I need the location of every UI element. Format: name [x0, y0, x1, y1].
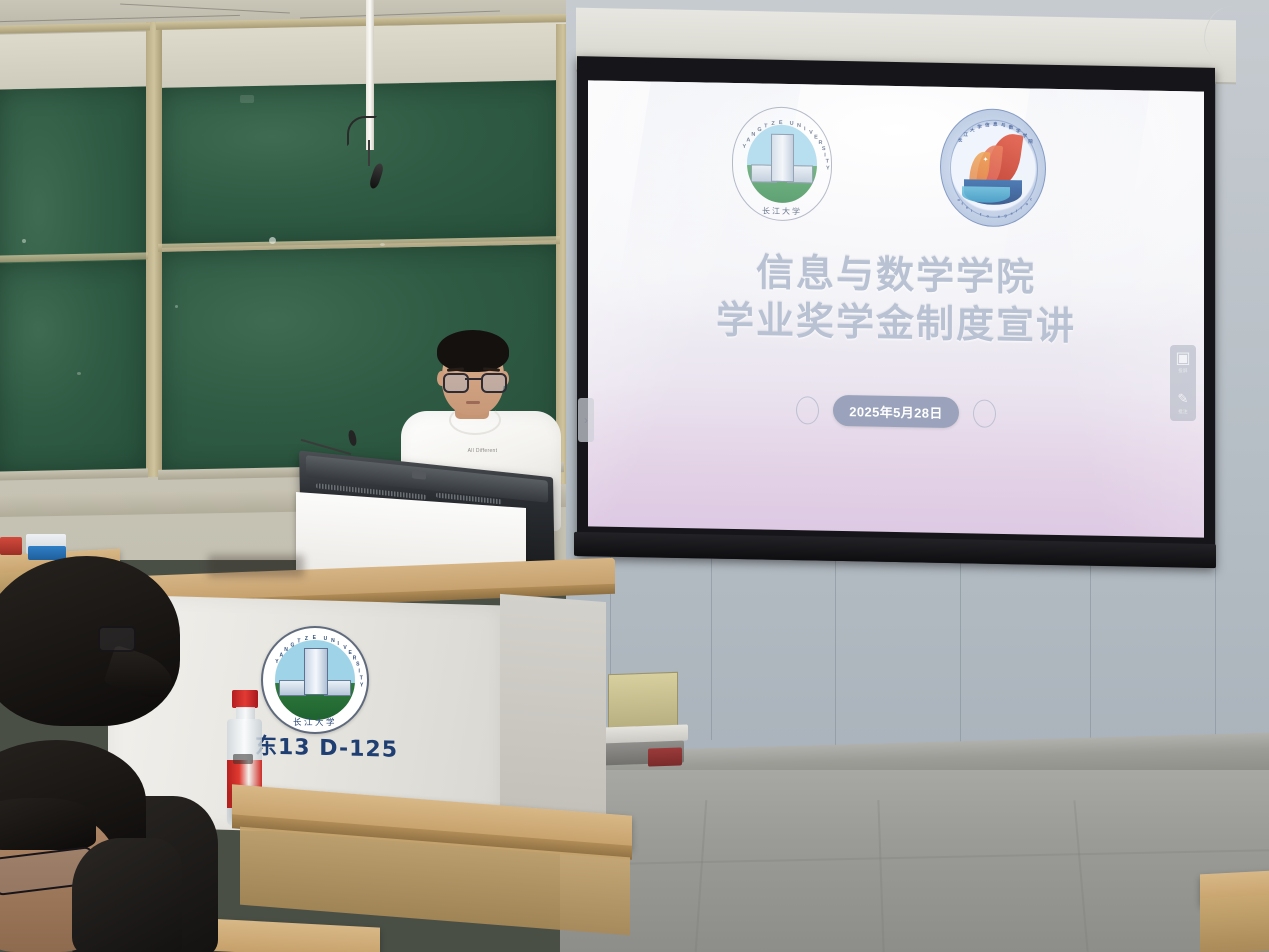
equipment-box [608, 672, 678, 728]
presenter-hair-side [485, 343, 509, 365]
emblem-arc-text: Y A N G T Z E U N I V E R S I T Y [733, 107, 831, 221]
podium-shadow [208, 555, 304, 577]
presenter-hair-side [439, 343, 463, 365]
student-back-of-head [0, 556, 200, 756]
podium-university-logo: Y A N G T Z E U N I V E R S I T Y 长江大学 [261, 626, 369, 734]
chalkboard-panel-upper [160, 80, 560, 248]
wall-panel-seam [1215, 40, 1216, 780]
room-label: 东13 D-125 [255, 728, 398, 763]
screen-tool-panel[interactable]: ▣ 投屏 ✎ 批注 [1170, 345, 1196, 421]
podium-logo-wing [324, 680, 351, 696]
student-hair-fringe [0, 798, 96, 850]
chalkboard-panel-left-lower [0, 260, 148, 473]
emblem-chinese-name: 长江大学 [733, 205, 831, 218]
chalk-mark [269, 237, 276, 244]
podium-logo-wing [279, 680, 306, 696]
shirt-print: All Different [395, 448, 570, 454]
presenter-glasses-lens-right [481, 373, 507, 393]
classroom-scene: Y A N G T Z E U N I V E R S I T Y [0, 0, 1269, 952]
microphone-stem [368, 140, 370, 166]
student-hair [0, 556, 180, 726]
student-desk-right-front [1200, 894, 1269, 952]
pen-tool-label: 批注 [1178, 409, 1187, 415]
decorative-ring-right [973, 399, 996, 427]
chalk-mark [77, 372, 81, 375]
decorative-ring-left [796, 396, 819, 424]
chevron-right-icon: › [584, 413, 588, 427]
student-profile [0, 746, 240, 952]
pen-icon[interactable]: ✎ [1176, 392, 1190, 405]
presenter-glasses-lens-left [443, 373, 469, 393]
slide-title-line1: 信息与数学学院 [588, 248, 1204, 302]
presenter-mouth [466, 401, 480, 404]
student-glasses [98, 626, 136, 652]
podium-logo-tower [304, 648, 328, 694]
slide-date-row: 2025年5月28日 [588, 390, 1204, 432]
chalk-mark [175, 305, 178, 308]
podium-side-panel [500, 594, 606, 836]
presenter-glasses-bridge [465, 378, 481, 380]
podium-logo-chinese: 长江大学 [263, 716, 367, 728]
chalk-mark [380, 243, 385, 246]
chalk-mark [240, 95, 254, 103]
microphone-arm [347, 116, 377, 146]
slide-logo-yangtze-university: Y A N G T Z E U N I V E R S I T Y [732, 107, 832, 221]
slide-date-badge: 2025年5月28日 [833, 395, 959, 428]
student-hand-arm [72, 838, 182, 952]
slide-logo-college: ✦ 长 江 大 学 信 息 与 数 学 学 院 c [940, 109, 1046, 227]
red-binder [648, 747, 682, 766]
monitor-stand-mount [412, 470, 426, 479]
emblem-arc-text-en: c o l l e g e o f i n f o [941, 109, 1045, 227]
projected-slide: Y A N G T Z E U N I V E R S I T Y [588, 80, 1204, 537]
yangtze-university-emblem: Y A N G T Z E U N I V E R S I T Y [732, 106, 832, 222]
chalk-mark [22, 239, 26, 243]
slide-title-line2: 学业奖学金制度宣讲 [588, 296, 1204, 350]
slide-next-arrow-button[interactable]: › [578, 398, 594, 442]
screen-tool-label: 投屏 [1178, 368, 1187, 374]
bottle-cap [232, 690, 258, 708]
desk-object-red [0, 537, 22, 555]
screen-icon[interactable]: ▣ [1176, 351, 1190, 364]
college-emblem: ✦ 长 江 大 学 信 息 与 数 学 学 院 c [940, 108, 1046, 228]
wall-strip [0, 31, 160, 89]
